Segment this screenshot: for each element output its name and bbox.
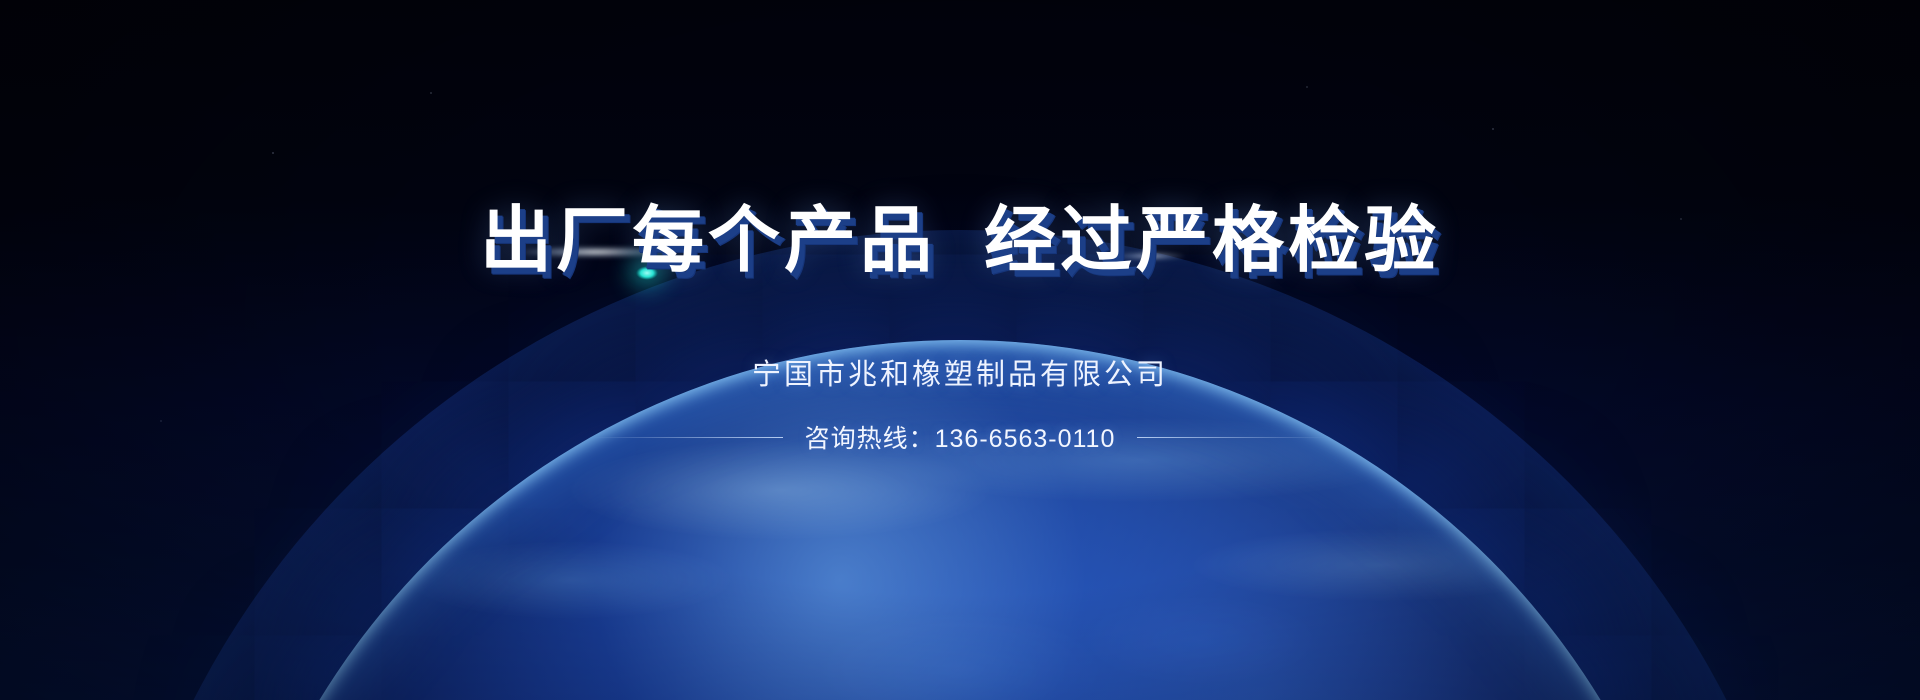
company-name: 宁国市兆和橡塑制品有限公司	[752, 351, 1168, 393]
banner-headline: 出厂每个产品 经过严格检验	[480, 205, 1440, 277]
hotline-text[interactable]: 咨询热线：136-6563-0110	[805, 419, 1116, 455]
divider-right	[1137, 437, 1327, 438]
banner-stage: 出厂每个产品 经过严格检验 宁国市兆和橡塑制品有限公司 咨询热线：136-656…	[0, 0, 1920, 700]
banner-content: 出厂每个产品 经过严格检验 宁国市兆和橡塑制品有限公司 咨询热线：136-656…	[0, 0, 1920, 700]
hotline-row: 咨询热线：136-6563-0110	[593, 419, 1328, 455]
divider-left	[593, 437, 783, 438]
